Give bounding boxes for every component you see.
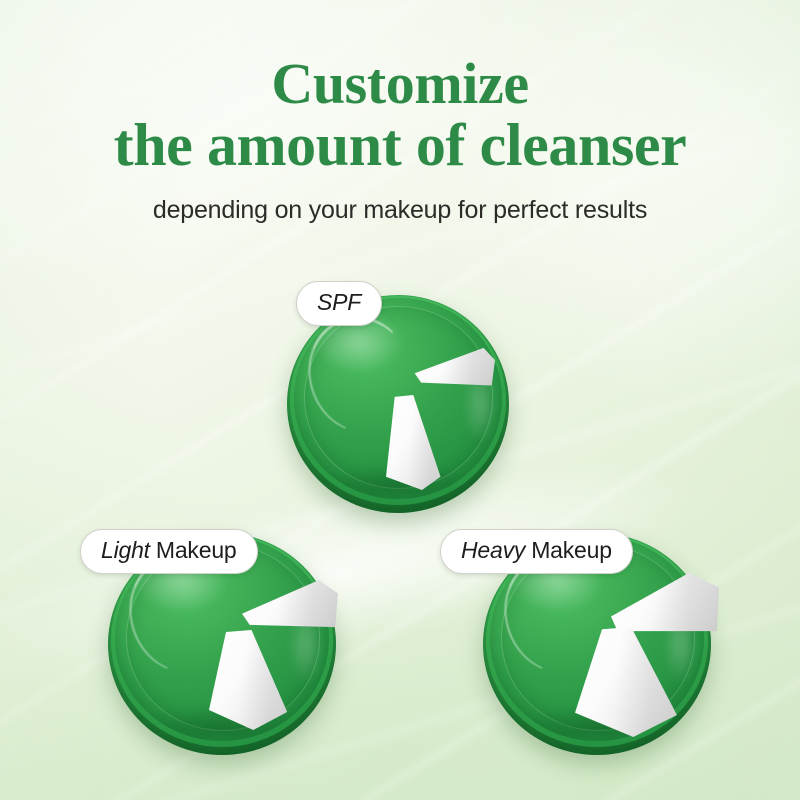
product-jar-spf	[287, 295, 509, 513]
headline-line-2: the amount of cleanser	[0, 116, 800, 174]
label-emphasis: SPF	[317, 289, 361, 316]
page-subtitle: depending on your makeup for perfect res…	[0, 196, 800, 225]
label-rest: Makeup	[156, 537, 237, 564]
label-badge-light-makeup[interactable]: Light Makeup	[80, 529, 258, 574]
label-emphasis: Light	[101, 537, 150, 564]
label-emphasis: Heavy	[461, 537, 525, 564]
label-rest: Makeup	[531, 537, 612, 564]
label-badge-heavy-makeup[interactable]: Heavy Makeup	[440, 529, 633, 574]
promotional-poster: Customize the amount of cleanser dependi…	[0, 0, 800, 800]
headline-line-1: Customize	[0, 56, 800, 112]
label-badge-spf[interactable]: SPF	[296, 281, 382, 326]
header-block: Customize the amount of cleanser dependi…	[0, 56, 800, 225]
page-title: Customize the amount of cleanser	[0, 56, 800, 174]
